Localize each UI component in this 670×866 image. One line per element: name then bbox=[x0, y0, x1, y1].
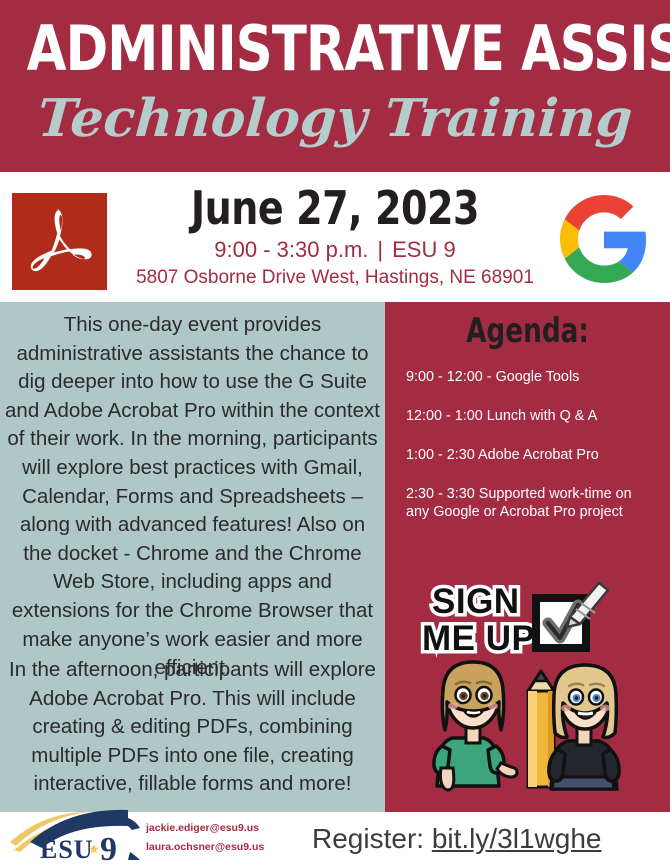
description-paragraph-1: This one-day event provides administrati… bbox=[4, 311, 381, 683]
page-title: ADMINISTRATIVE ASSISTANTS bbox=[27, 14, 643, 84]
sign-me-up-text: SIGN ME UP bbox=[422, 582, 535, 658]
register-callout: Register: bit.ly/3l1wghe bbox=[312, 820, 664, 858]
event-location: ESU 9 bbox=[392, 237, 456, 262]
adobe-acrobat-icon bbox=[12, 193, 107, 290]
register-link[interactable]: bit.ly/3l1wghe bbox=[432, 823, 602, 854]
description-paragraph-2: In the afternoon, participants will expl… bbox=[4, 656, 381, 799]
flyer-page: ADMINISTRATIVE ASSISTANTS Technology Tra… bbox=[0, 0, 670, 866]
svg-text:9: 9 bbox=[100, 831, 117, 864]
time-location-separator: | bbox=[368, 237, 392, 262]
signup-artwork: SIGN ME UP bbox=[418, 573, 644, 805]
register-label: Register: bbox=[312, 823, 424, 854]
svg-text:SIGN: SIGN bbox=[432, 582, 520, 621]
email-address[interactable]: laura.ochsner@esu9.us bbox=[146, 838, 306, 857]
agenda-item: 2:30 - 3:30 Supported work-time on any G… bbox=[406, 485, 656, 521]
agenda-item: 9:00 - 12:00 - Google Tools bbox=[406, 368, 656, 386]
bitmoji-avatar-left bbox=[434, 662, 517, 790]
event-time: 9:00 - 3:30 p.m. bbox=[214, 237, 368, 262]
event-details: June 27, 2023 9:00 - 3:30 p.m.|ESU 9 580… bbox=[112, 182, 558, 291]
event-address: 5807 Osborne Drive West, Hastings, NE 68… bbox=[112, 265, 558, 291]
email-address[interactable]: jackie.ediger@esu9.us bbox=[146, 819, 306, 838]
event-info-band: June 27, 2023 9:00 - 3:30 p.m.|ESU 9 580… bbox=[0, 172, 670, 302]
page-subtitle: Technology Training bbox=[0, 80, 670, 158]
event-date: June 27, 2023 bbox=[130, 182, 540, 234]
agenda-title: Agenda: bbox=[405, 311, 650, 351]
event-time-location: 9:00 - 3:30 p.m.|ESU 9 bbox=[112, 234, 558, 265]
header-band: ADMINISTRATIVE ASSISTANTS Technology Tra… bbox=[0, 0, 670, 172]
google-g-icon bbox=[560, 195, 648, 283]
agenda-item: 1:00 - 2:30 Adobe Acrobat Pro bbox=[406, 446, 656, 464]
agenda-list: 9:00 - 12:00 - Google Tools 12:00 - 1:00… bbox=[406, 368, 656, 542]
agenda-item: 12:00 - 1:00 Lunch with Q & A bbox=[406, 407, 656, 425]
description-column: This one-day event provides administrati… bbox=[0, 302, 385, 812]
svg-text:ME UP: ME UP bbox=[422, 619, 535, 658]
footer: ESU 9 jackie.ediger@esu9.us laura.ochsne… bbox=[0, 812, 670, 866]
esu9-logo: ESU 9 bbox=[4, 808, 144, 864]
contact-emails: jackie.ediger@esu9.us laura.ochsner@esu9… bbox=[146, 819, 306, 857]
bitmoji-avatar-right bbox=[549, 665, 619, 789]
svg-text:ESU: ESU bbox=[40, 835, 94, 864]
